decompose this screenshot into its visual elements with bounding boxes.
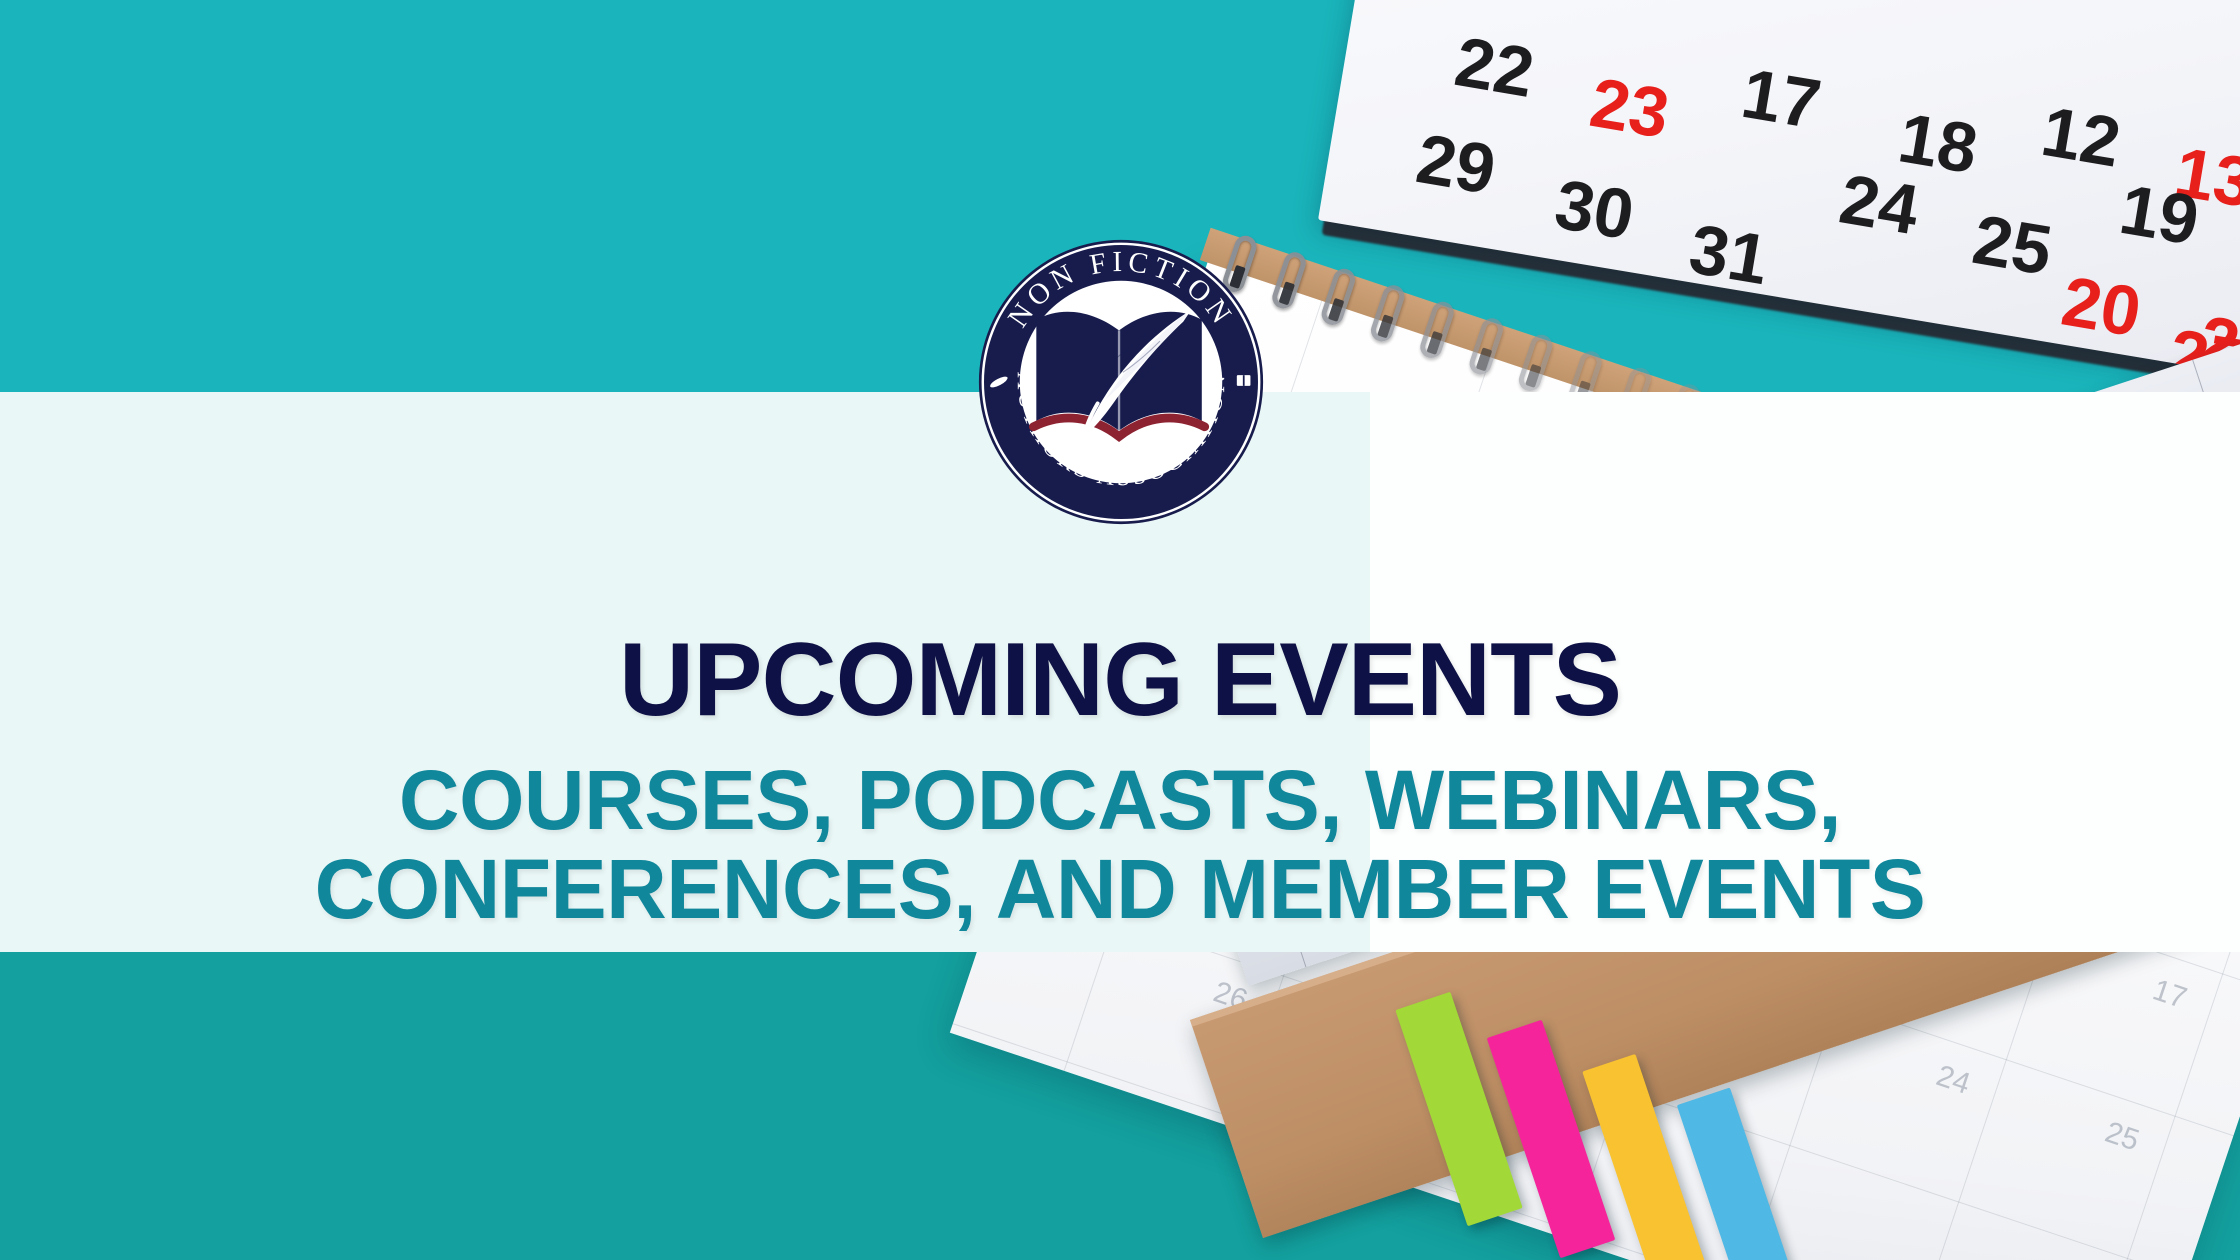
wall-calendar-date: 29 [1411,118,1501,210]
spiral-coil [1417,299,1456,361]
wall-calendar-date: 24 [1834,159,1924,251]
wall-calendar-date: 12 [2036,91,2126,183]
sticky-flag-group [1430,995,1890,1260]
spiral-coil [1269,249,1308,311]
sticky-flag-pink [1487,1020,1616,1258]
banner-stage: 222317181213142930312425192620212728 MON… [0,0,2240,1260]
page-subtitle-line-2: CONFERENCES, AND MEMBER EVENTS [315,845,1926,934]
non-fiction-authors-association-logo: NON FICTION AUTHORS ASSOCIATION [975,228,1267,536]
wall-calendar-date: 30 [1549,164,1639,256]
wall-calendar-date: 25 [1967,199,2057,291]
page-subtitle: COURSES, PODCASTS, WEBINARS, CONFERENCES… [315,756,1926,934]
wall-calendar-date: 19 [2114,169,2204,261]
spiral-coil [1516,332,1555,394]
wall-calendar-date: 17 [1736,53,1826,145]
page-title: UPCOMING EVENTS [619,628,1621,732]
wall-calendar-date: 23 [1585,62,1675,154]
wall-calendar-date: 22 [1450,21,1540,113]
page-subtitle-line-1: COURSES, PODCASTS, WEBINARS, [399,753,1841,847]
wall-calendar-date: 20 [2056,261,2146,353]
spiral-coil [1467,315,1506,377]
spiral-coil [1319,266,1358,328]
spiral-coil [1368,282,1407,344]
